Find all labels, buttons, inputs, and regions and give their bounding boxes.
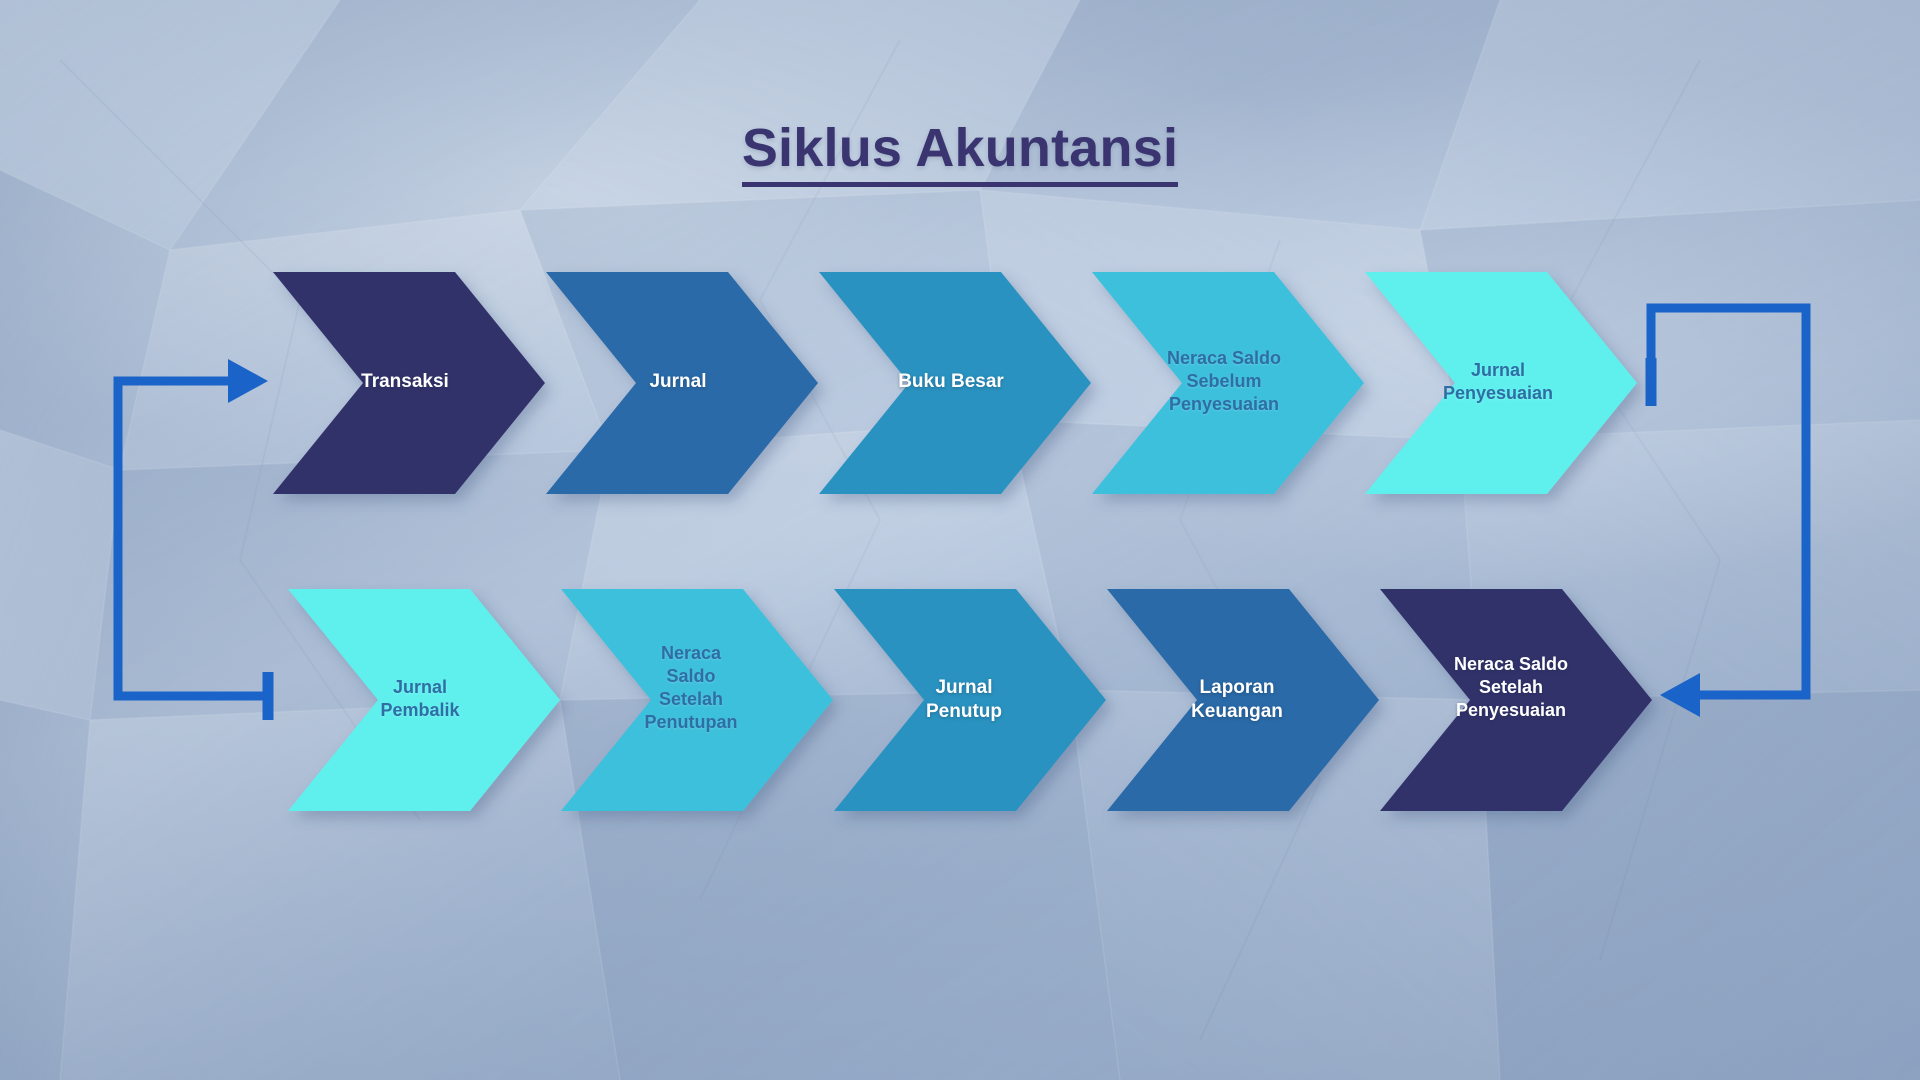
chevron-jurnal-penyesuaian[interactable] <box>1365 272 1637 494</box>
chevron-jurnal-penutup[interactable] <box>834 589 1106 811</box>
page-title: Siklus Akuntansi <box>742 120 1178 187</box>
connector-right-loop <box>1651 308 1806 695</box>
arrowhead-left-icon <box>1660 673 1700 717</box>
connector-left-return <box>118 381 268 720</box>
arrowhead-right-icon <box>228 359 268 403</box>
chevron-jurnal[interactable] <box>546 272 818 494</box>
chevron-neraca-saldo-setelah-penyesuaian[interactable] <box>1380 589 1652 811</box>
chevron-neraca-saldo-sebelum-penyesuaian[interactable] <box>1092 272 1364 494</box>
chevron-transaksi[interactable] <box>273 272 545 494</box>
title-container: Siklus Akuntansi <box>0 84 1920 223</box>
chevron-neraca-saldo-setelah-penutupan[interactable] <box>561 589 833 811</box>
chevron-row-2 <box>288 589 1652 811</box>
chevron-buku-besar[interactable] <box>819 272 1091 494</box>
chevron-row-1 <box>273 272 1637 494</box>
chevron-laporan-keuangan[interactable] <box>1107 589 1379 811</box>
chevron-jurnal-pembalik[interactable] <box>288 589 560 811</box>
